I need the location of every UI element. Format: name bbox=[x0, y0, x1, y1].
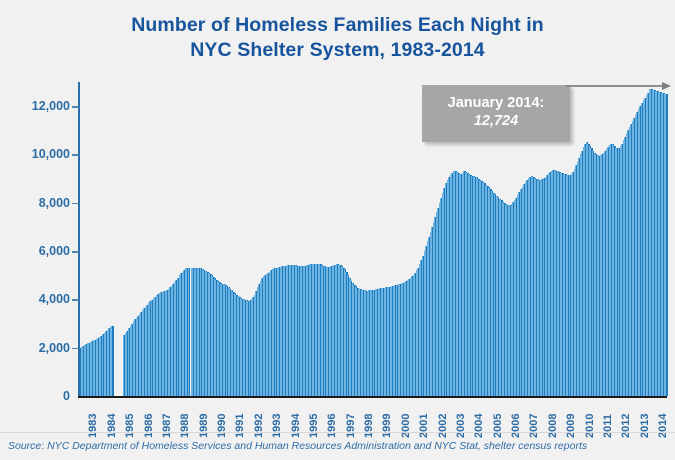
bar-series bbox=[79, 82, 667, 396]
y-axis-tick-label: 8,000 bbox=[4, 197, 70, 209]
y-axis-tick-label: 0 bbox=[4, 390, 70, 402]
x-axis-tick-label: 1987 bbox=[161, 414, 173, 438]
chart-container: Number of Homeless Families Each Night i… bbox=[0, 0, 675, 460]
chart-title-line-1: Number of Homeless Families Each Night i… bbox=[131, 14, 544, 36]
y-axis-tick-label: 4,000 bbox=[4, 293, 70, 305]
y-axis-tick bbox=[72, 299, 79, 301]
y-axis-tick bbox=[72, 106, 79, 108]
x-axis-tick-label: 2003 bbox=[455, 414, 467, 438]
bar bbox=[188, 268, 190, 396]
chart-title-line-2: NYC Shelter System, 1983-2014 bbox=[0, 38, 675, 63]
x-axis-tick-label: 2008 bbox=[547, 414, 559, 438]
x-axis-tick-label: 1993 bbox=[271, 414, 283, 438]
x-axis-tick-label: 2005 bbox=[492, 414, 504, 438]
x-axis-tick-label: 1984 bbox=[106, 414, 118, 438]
x-axis-tick-label: 1999 bbox=[381, 414, 393, 438]
y-axis-tick bbox=[72, 348, 79, 350]
x-axis-tick-label: 1997 bbox=[345, 414, 357, 438]
y-axis-labels: 02,0004,0006,0008,00010,00012,000 bbox=[0, 0, 70, 460]
y-axis-tick-label: 12,000 bbox=[4, 100, 70, 112]
x-axis-tick-label: 2004 bbox=[473, 414, 485, 438]
x-axis-tick-label: 1988 bbox=[179, 414, 191, 438]
bar bbox=[665, 94, 667, 396]
y-axis-tick bbox=[72, 154, 79, 156]
x-axis-tick-label: 1989 bbox=[198, 414, 210, 438]
x-axis-tick-label: 1991 bbox=[234, 414, 246, 438]
y-axis-tick bbox=[72, 251, 79, 253]
x-axis-tick-label: 1998 bbox=[363, 414, 375, 438]
y-axis-line bbox=[78, 82, 80, 397]
x-axis-tick-label: 2011 bbox=[602, 414, 614, 438]
plot-area bbox=[79, 82, 667, 396]
x-axis-tick-label: 1983 bbox=[87, 414, 99, 438]
bar bbox=[111, 326, 113, 396]
callout-label: January 2014: bbox=[422, 94, 570, 112]
x-axis-tick-label: 1985 bbox=[124, 414, 136, 438]
x-axis-tick-label: 2006 bbox=[510, 414, 522, 438]
x-axis-tick-label: 2009 bbox=[565, 414, 577, 438]
x-axis-tick-label: 1992 bbox=[253, 414, 265, 438]
callout-box: January 2014: 12,724 bbox=[422, 85, 570, 142]
x-axis-tick-label: 2001 bbox=[418, 414, 430, 438]
x-axis-tick-label: 1995 bbox=[308, 414, 320, 438]
x-axis-tick-label: 2014 bbox=[657, 414, 669, 438]
x-axis-tick-label: 1996 bbox=[326, 414, 338, 438]
x-axis-tick-label: 1994 bbox=[290, 414, 302, 438]
y-axis-tick-label: 2,000 bbox=[4, 342, 70, 354]
x-axis-tick-label: 1986 bbox=[143, 414, 155, 438]
source-divider bbox=[0, 432, 675, 433]
x-axis-tick-label: 2013 bbox=[639, 414, 651, 438]
x-axis-labels: 1983198419851986198719881989199019911992… bbox=[79, 398, 667, 440]
callout-value: 12,724 bbox=[422, 112, 570, 130]
x-axis-tick-label: 2000 bbox=[400, 414, 412, 438]
source-note: Source: NYC Department of Homeless Servi… bbox=[8, 440, 587, 452]
y-axis-tick-label: 6,000 bbox=[4, 245, 70, 257]
x-axis-tick-label: 2010 bbox=[584, 414, 596, 438]
x-axis-tick-label: 2007 bbox=[528, 414, 540, 438]
x-axis-tick-label: 2002 bbox=[437, 414, 449, 438]
y-axis-tick-label: 10,000 bbox=[4, 148, 70, 160]
x-axis-tick-label: 2012 bbox=[620, 414, 632, 438]
x-axis-tick-label: 1990 bbox=[216, 414, 228, 438]
chart-title: Number of Homeless Families Each Night i… bbox=[0, 13, 675, 63]
callout-arrow-icon bbox=[566, 80, 672, 102]
y-axis-tick bbox=[72, 203, 79, 205]
